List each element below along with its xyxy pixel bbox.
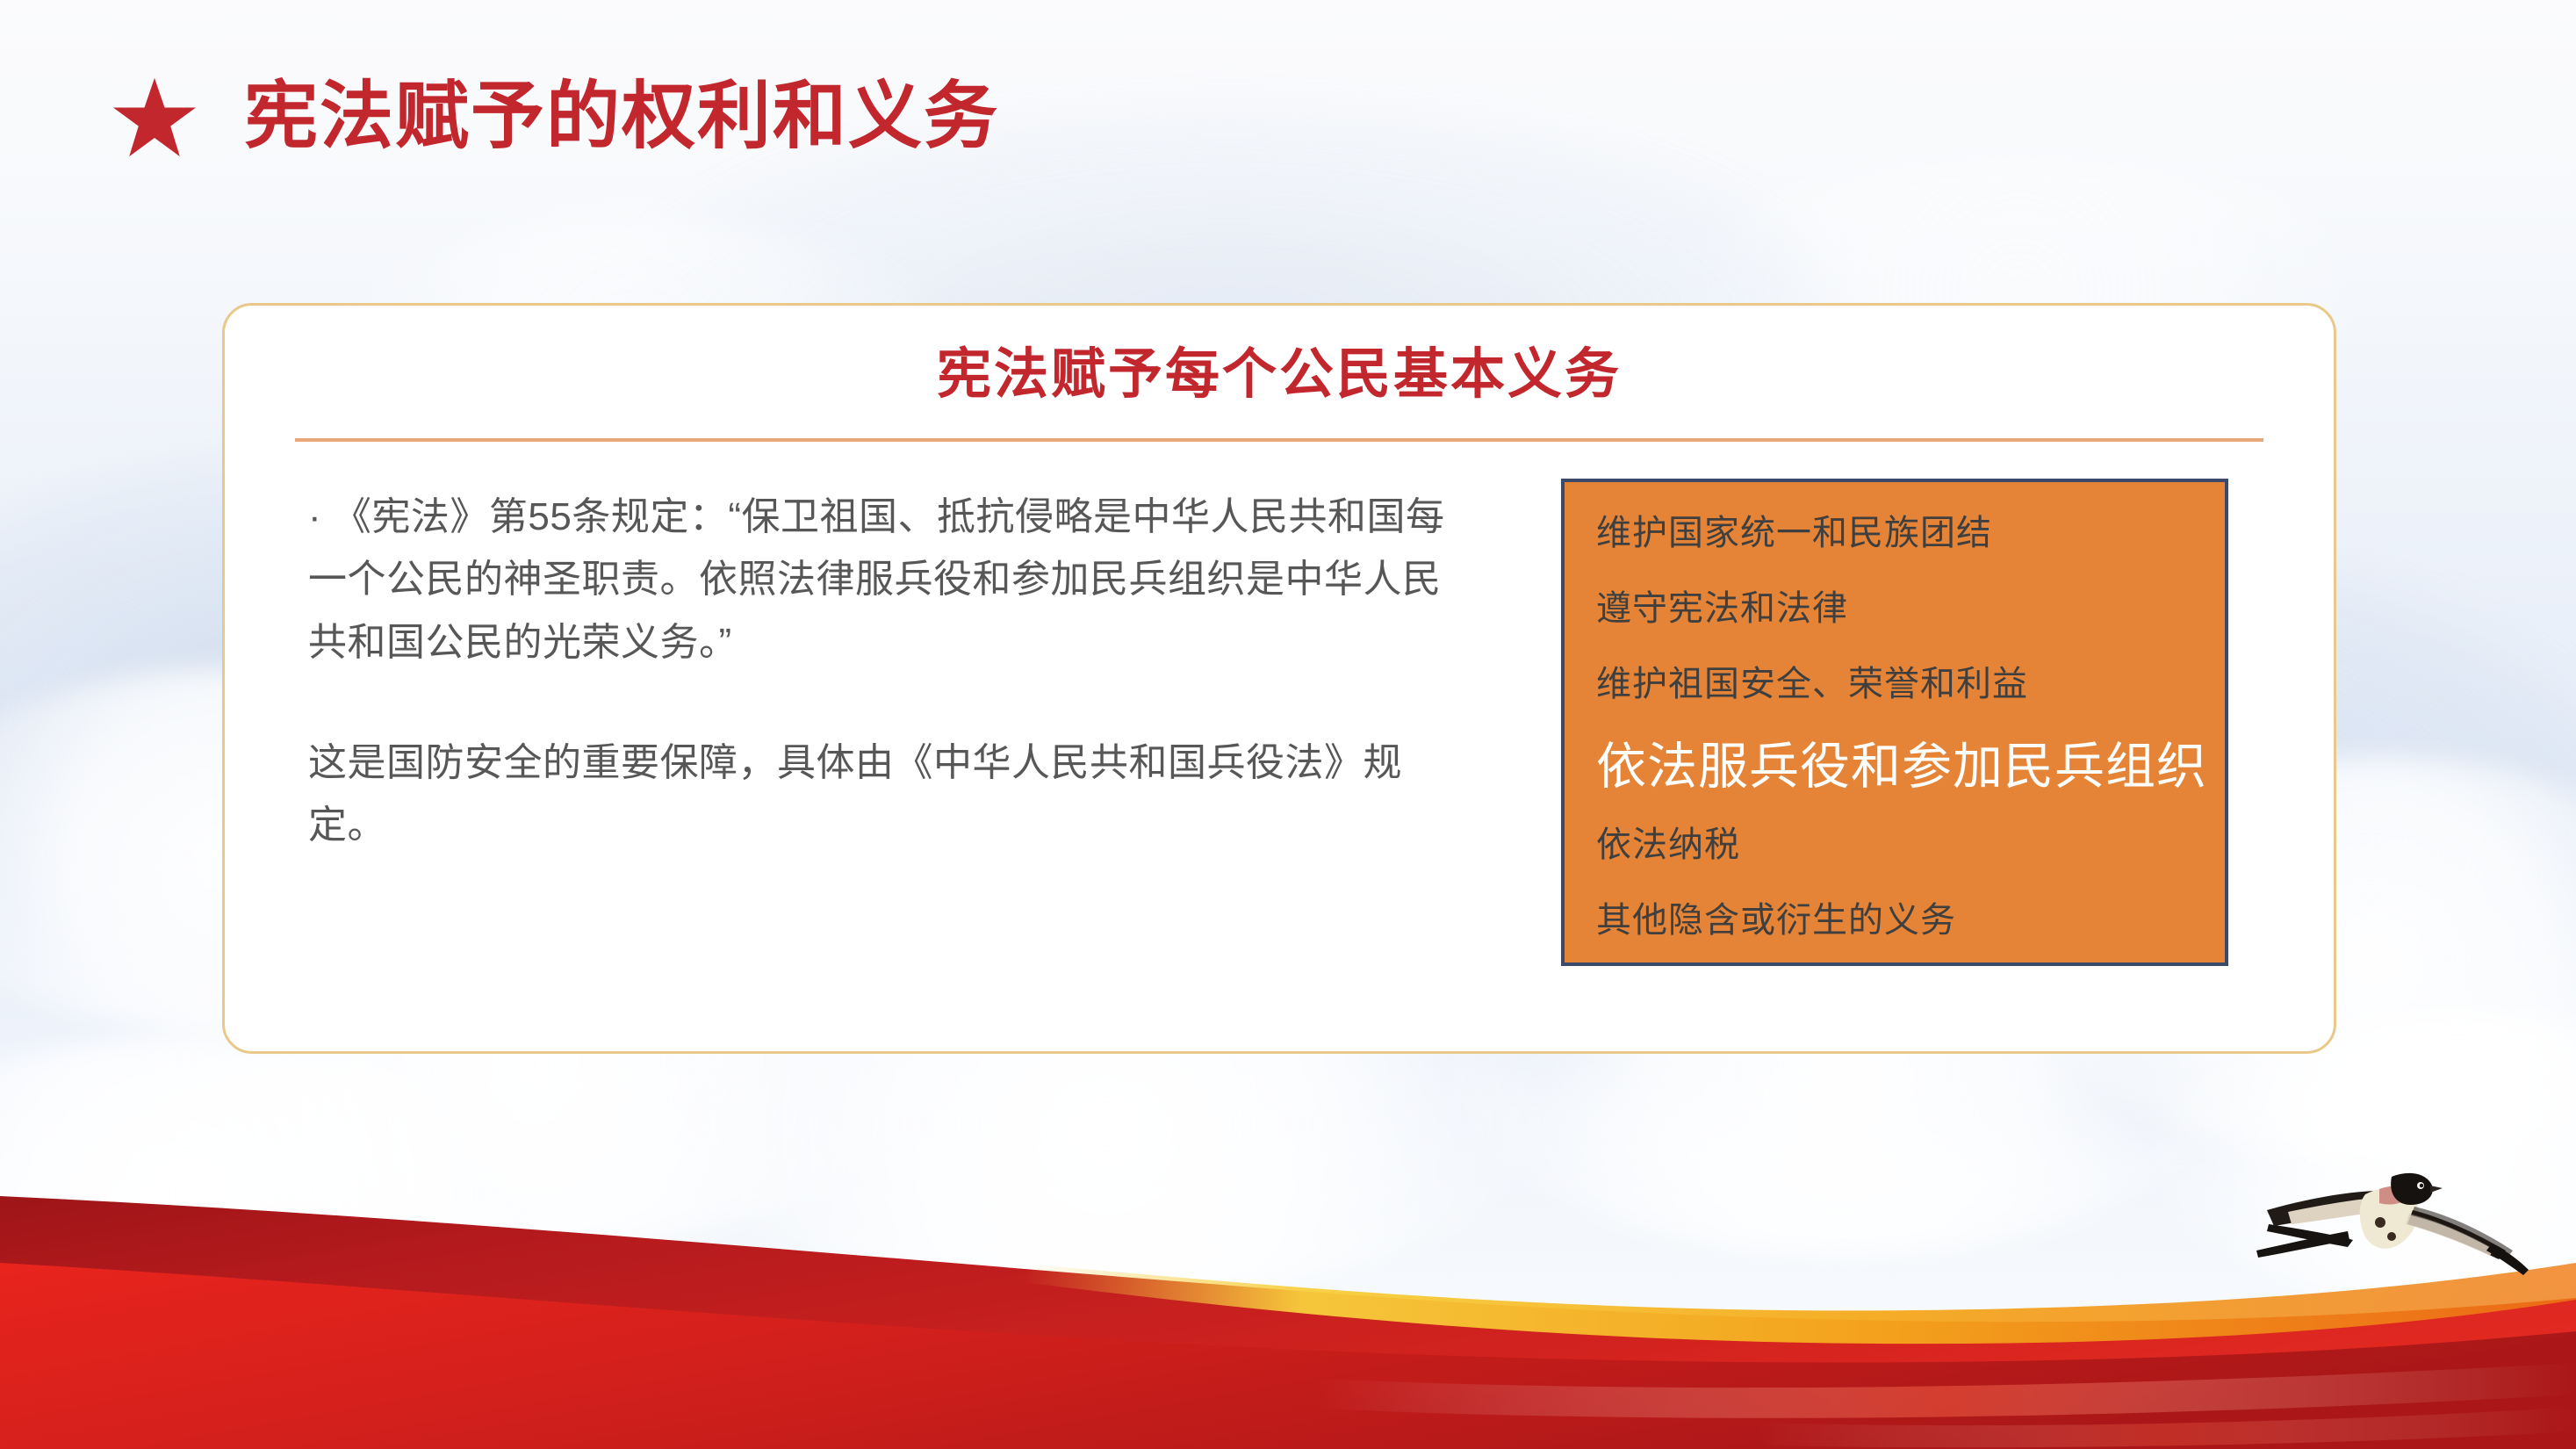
obligation-item[interactable]: 遵守宪法和法律	[1596, 591, 2193, 626]
prose-block: · 《宪法》第55条规定：“保卫祖国、抵抗侵略是中华人民共和国每一个公民的神圣职…	[308, 486, 1476, 856]
paragraph-gap	[308, 674, 1476, 732]
obligation-item-highlighted[interactable]: 依法服兵役和参加民兵组织	[1596, 742, 2193, 792]
prose-paragraph-2: 这是国防安全的重要保障，具体由《中华人民共和国兵役法》规定。	[308, 732, 1476, 857]
page-header: 宪法赋予的权利和义务	[112, 76, 999, 160]
obligations-box: 维护国家统一和民族团结 遵守宪法和法律 维护祖国安全、荣誉和利益 依法服兵役和参…	[1561, 479, 2228, 966]
flying-swallow-icon	[2242, 1159, 2532, 1291]
red-ribbon-wave	[0, 1159, 2576, 1449]
obligation-item[interactable]: 依法纳税	[1596, 827, 2193, 862]
prose-paragraph-1: · 《宪法》第55条规定：“保卫祖国、抵抗侵略是中华人民共和国每一个公民的神圣职…	[308, 486, 1476, 674]
card-divider	[295, 438, 2263, 442]
obligation-item[interactable]: 维护祖国安全、荣誉和利益	[1596, 667, 2193, 702]
ribbon-svg	[0, 1159, 2576, 1449]
swallow-svg	[2242, 1159, 2532, 1291]
card-title: 宪法赋予每个公民基本义务	[225, 348, 2334, 402]
red-star-icon	[112, 76, 197, 160]
page-title: 宪法赋予的权利和义务	[244, 81, 999, 155]
slide-canvas: 宪法赋予的权利和义务 宪法赋予每个公民基本义务 · 《宪法》第55条规定：“保卫…	[0, 0, 2576, 1449]
obligation-item[interactable]: 其他隐含或衍生的义务	[1596, 903, 2193, 938]
obligation-item[interactable]: 维护国家统一和民族团结	[1596, 515, 2193, 551]
